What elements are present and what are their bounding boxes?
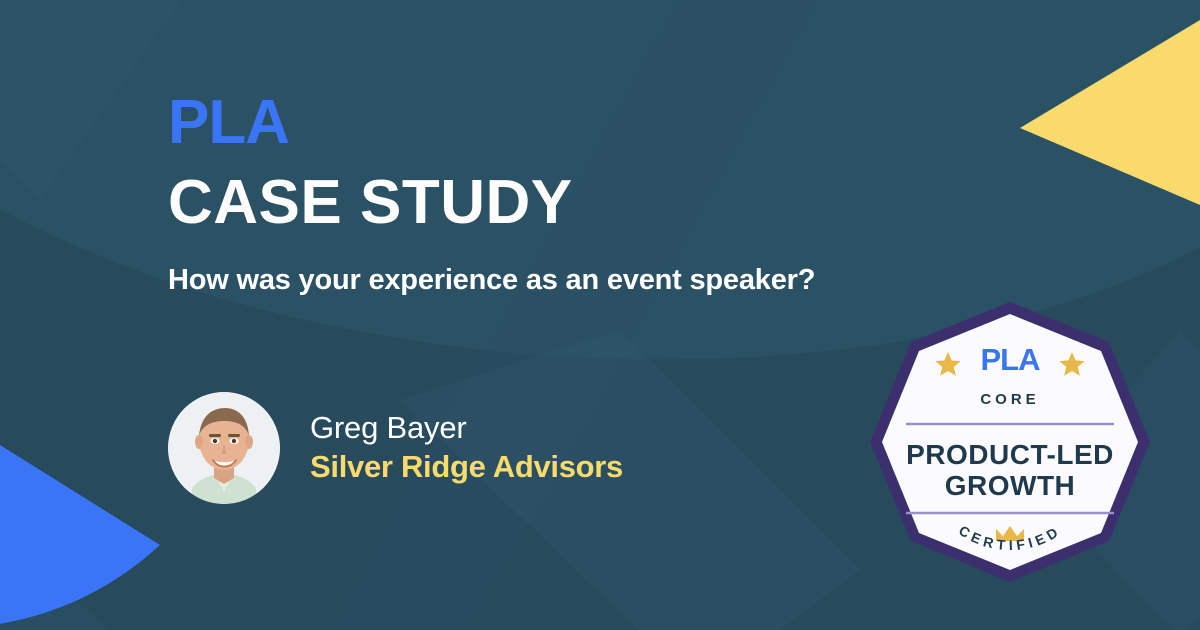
speaker-company: Silver Ridge Advisors [310, 448, 623, 487]
badge-title-line2: GROWTH [945, 470, 1076, 501]
headline-block: PLA CASE STUDY How was your experience a… [168, 92, 868, 300]
speaker-name: Greg Bayer [310, 409, 623, 448]
certification-badge: PLA CORE PRODUCT-LED GROWTH CERTIFIED [866, 298, 1154, 586]
badge-brand: PLA [981, 342, 1041, 377]
page-title: CASE STUDY [168, 170, 868, 235]
case-study-card: PLA CASE STUDY How was your experience a… [0, 0, 1200, 630]
pla-logo: PLA [168, 92, 868, 154]
speaker-info: Greg Bayer Silver Ridge Advisors [310, 409, 623, 487]
question-text: How was your experience as an event spea… [168, 261, 818, 300]
badge-tier: CORE [980, 391, 1039, 408]
avatar [168, 392, 280, 504]
avatar-photo [168, 392, 280, 504]
badge-title-line1: PRODUCT-LED [906, 439, 1114, 470]
speaker-block: Greg Bayer Silver Ridge Advisors [168, 392, 623, 504]
